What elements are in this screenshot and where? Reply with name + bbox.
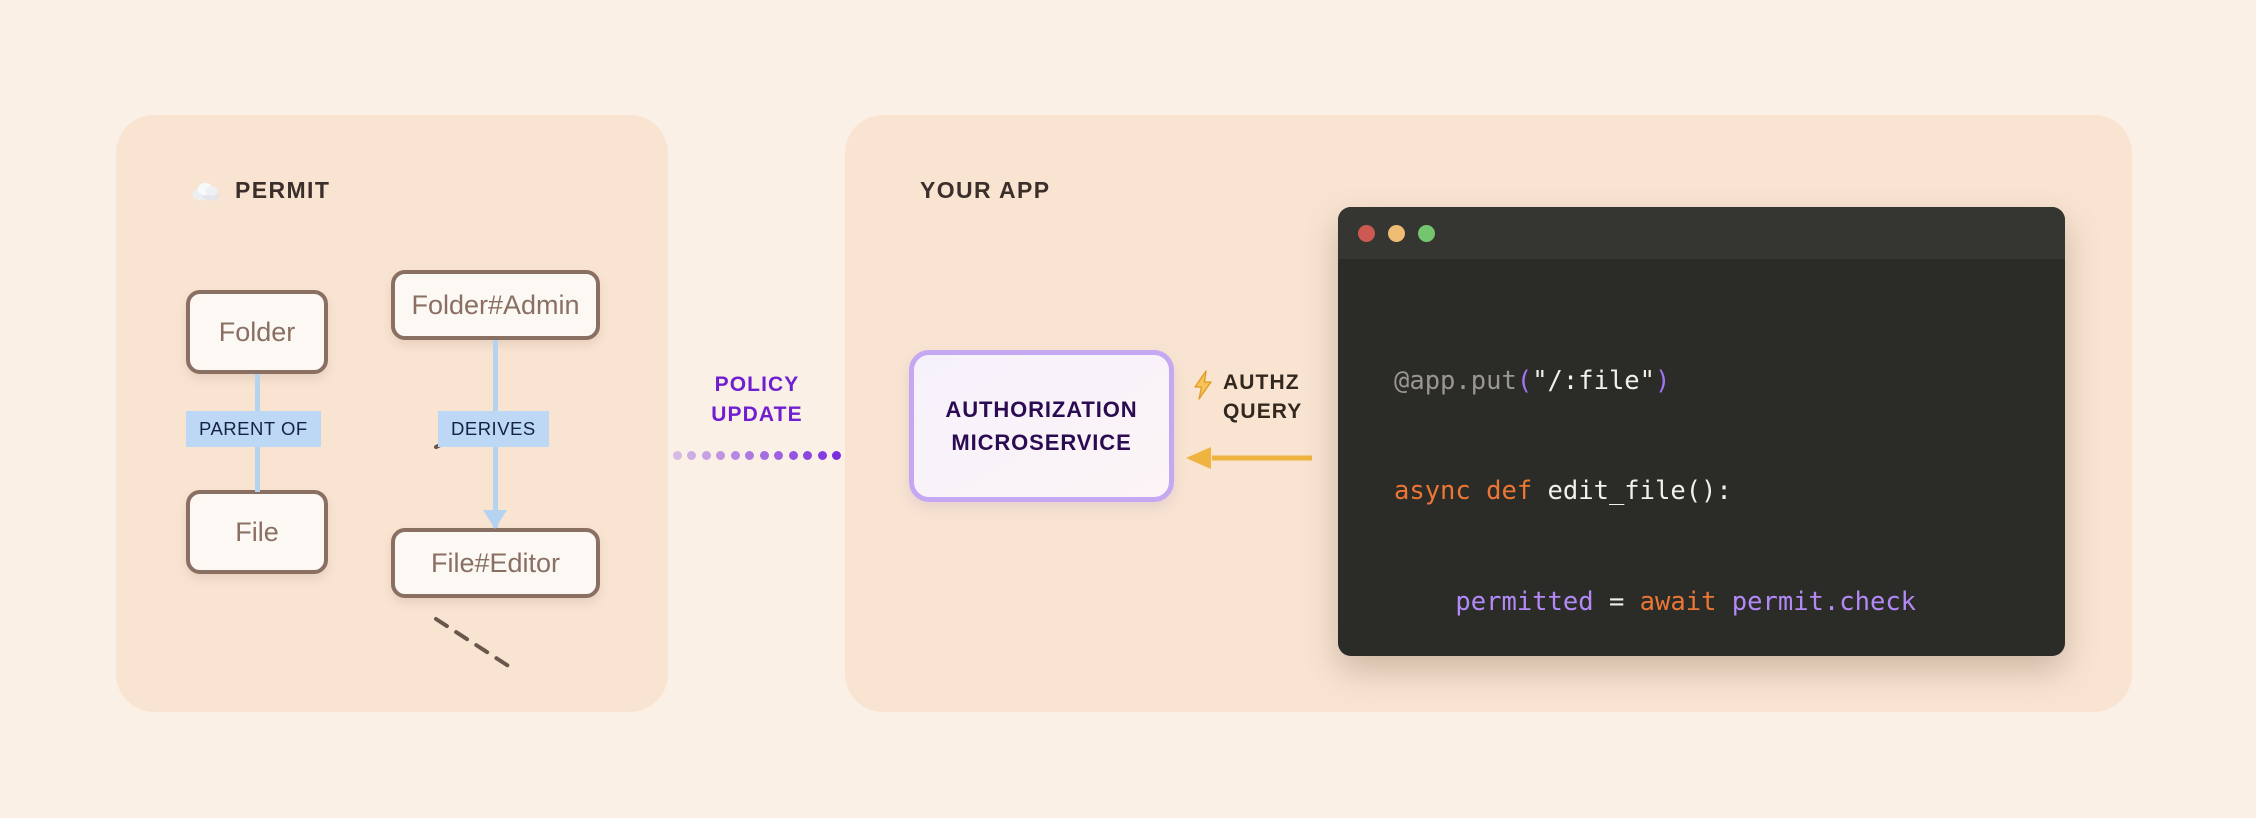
- code-line-1: @app.put("/:file"): [1394, 363, 2065, 400]
- dashed-edge-file-to-file-editor: [436, 613, 516, 675]
- node-folder[interactable]: Folder: [186, 290, 328, 374]
- policy-update-group: POLICY UPDATE: [668, 370, 846, 460]
- permit-panel-header: PERMIT: [191, 177, 330, 204]
- minimize-icon[interactable]: [1388, 225, 1405, 242]
- policy-update-label-line2: UPDATE: [668, 400, 846, 430]
- node-file-label: File: [235, 517, 279, 548]
- cloud-icon: [191, 180, 221, 202]
- authz-query-group: AUTHZ QUERY: [1192, 368, 1302, 427]
- policy-update-dot: [832, 451, 841, 460]
- code-window-titlebar: [1338, 207, 2065, 259]
- code-editor-content[interactable]: @app.put("/:file") async def edit_file()…: [1338, 259, 2065, 656]
- edge-arrowhead-derives: [483, 510, 507, 529]
- app-panel-header: YOUR APP: [920, 177, 1050, 204]
- authorization-microservice-box[interactable]: AUTHORIZATION MICROSERVICE: [909, 350, 1174, 502]
- policy-update-dot: [673, 451, 682, 460]
- code-line-3: permitted = await permit.check: [1394, 584, 2065, 621]
- node-file[interactable]: File: [186, 490, 328, 574]
- code-line-2: async def edit_file():: [1394, 473, 2065, 510]
- policy-update-dot: [745, 451, 754, 460]
- lightning-bolt-icon: [1192, 370, 1214, 400]
- edge-chip-derives: DERIVES: [438, 411, 549, 447]
- node-file-editor-label: File#Editor: [431, 548, 560, 579]
- code-editor-window[interactable]: @app.put("/:file") async def edit_file()…: [1338, 207, 2065, 656]
- policy-update-dot: [702, 451, 711, 460]
- node-folder-admin[interactable]: Folder#Admin: [391, 270, 600, 340]
- node-folder-admin-label: Folder#Admin: [411, 290, 579, 321]
- policy-update-label-line1: POLICY: [668, 370, 846, 400]
- policy-update-dot: [760, 451, 769, 460]
- authz-box-line1: AUTHORIZATION: [945, 397, 1137, 423]
- authz-query-line2: QUERY: [1223, 397, 1302, 426]
- authz-query-line1: AUTHZ: [1223, 368, 1302, 397]
- policy-update-dot: [789, 451, 798, 460]
- close-icon[interactable]: [1358, 225, 1375, 242]
- policy-update-dot: [731, 451, 740, 460]
- maximize-icon[interactable]: [1418, 225, 1435, 242]
- app-panel-title: YOUR APP: [920, 177, 1050, 204]
- node-file-editor[interactable]: File#Editor: [391, 528, 600, 598]
- policy-update-dot: [803, 451, 812, 460]
- policy-update-dotted-line: [673, 451, 841, 460]
- policy-update-dot: [818, 451, 827, 460]
- policy-update-dot: [774, 451, 783, 460]
- policy-update-dot: [716, 451, 725, 460]
- edge-chip-parent-of: PARENT OF: [186, 411, 321, 447]
- authz-box-line2: MICROSERVICE: [951, 430, 1131, 456]
- policy-update-dot: [687, 451, 696, 460]
- diagram-canvas: PERMIT Folder Folder#Admin File File#Edi…: [0, 0, 2256, 818]
- node-folder-label: Folder: [219, 317, 296, 348]
- authz-query-arrow: [1184, 446, 1314, 470]
- permit-panel-title: PERMIT: [235, 177, 330, 204]
